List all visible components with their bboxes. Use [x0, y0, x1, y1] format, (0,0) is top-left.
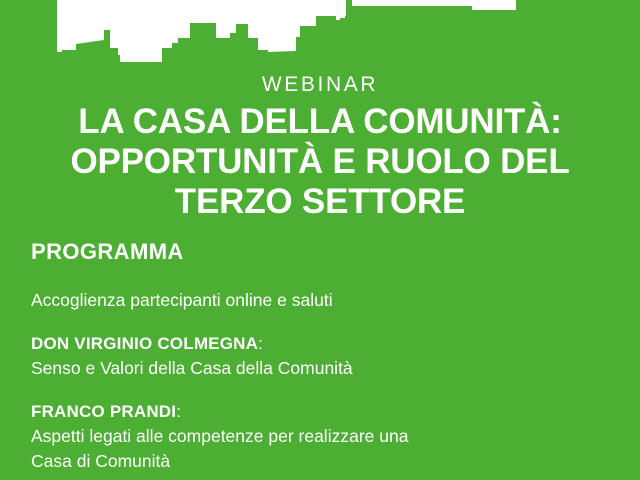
- programme-heading: PROGRAMMA: [31, 238, 611, 266]
- speaker-colon: :: [176, 402, 181, 421]
- speaker-description-line: Casa di Comunità: [31, 449, 611, 474]
- programme-item-colmegna: DON VIRGINIO COLMEGNA: Senso e Valori de…: [31, 331, 611, 381]
- title-line-3: TERZO SETTORE: [18, 182, 622, 222]
- title-line-1: LA CASA DELLA COMUNITÀ:: [18, 102, 622, 142]
- programme-section: PROGRAMMA Accoglienza partecipanti onlin…: [31, 238, 611, 480]
- programme-item-prandi: FRANCO PRANDI: Aspetti legati alle compe…: [31, 399, 611, 474]
- speaker-colon: :: [258, 334, 263, 353]
- poster-header: WEBINAR LA CASA DELLA COMUNITÀ: OPPORTUN…: [0, 72, 640, 222]
- city-skyline-silhouette: [0, 0, 640, 72]
- speaker-name-text: DON VIRGINIO COLMEGNA: [31, 334, 258, 353]
- programme-item-welcome: Accoglienza partecipanti online e saluti: [31, 288, 611, 313]
- page-title: LA CASA DELLA COMUNITÀ: OPPORTUNITÀ E RU…: [0, 102, 640, 222]
- speaker-name-text: FRANCO PRANDI: [31, 402, 176, 421]
- speaker-description-line: Senso e Valori della Casa della Comunità: [31, 356, 611, 381]
- programme-item-text: Accoglienza partecipanti online e saluti: [31, 288, 611, 313]
- speaker-name: FRANCO PRANDI:: [31, 399, 611, 424]
- title-line-2: OPPORTUNITÀ E RUOLO DEL: [18, 142, 622, 182]
- speaker-description-line: Aspetti legati alle competenze per reali…: [31, 424, 611, 449]
- speaker-name: DON VIRGINIO COLMEGNA:: [31, 331, 611, 356]
- webinar-kicker: WEBINAR: [0, 72, 640, 98]
- webinar-poster: WEBINAR LA CASA DELLA COMUNITÀ: OPPORTUN…: [0, 0, 640, 480]
